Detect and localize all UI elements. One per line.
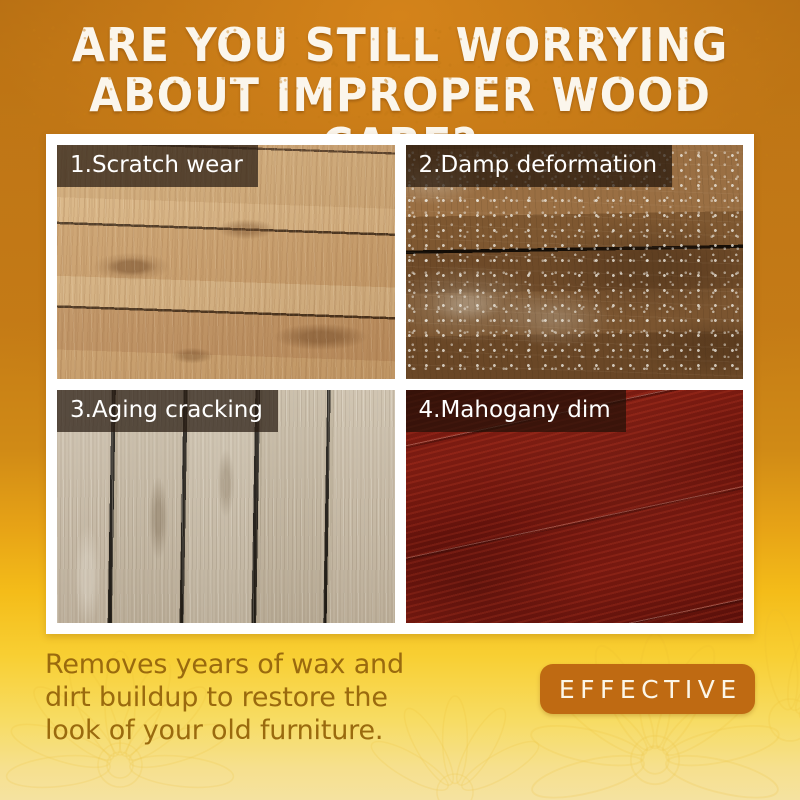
- panel-label-3: 3.Aging cracking: [57, 390, 278, 432]
- panel-aging-cracking: 3.Aging cracking: [57, 390, 395, 624]
- panel-label-1: 1.Scratch wear: [57, 145, 258, 187]
- panel-damp-deformation: 2.Damp deformation: [406, 145, 744, 379]
- photo-grid: 1.Scratch wear 2.Damp deformation 3.Agin…: [57, 145, 743, 623]
- headline-line-1: ARE YOU STILL WORRYING: [28, 20, 772, 70]
- panel-label-4: 4.Mahogany dim: [406, 390, 626, 432]
- caption-text: Removes years of wax and dirt buildup to…: [45, 648, 445, 747]
- panel-label-2: 2.Damp deformation: [406, 145, 673, 187]
- photo-grid-frame: 1.Scratch wear 2.Damp deformation 3.Agin…: [46, 134, 754, 634]
- panel-scratch-wear: 1.Scratch wear: [57, 145, 395, 379]
- effective-badge: EFFECTIVE: [540, 664, 755, 714]
- effective-badge-label: EFFECTIVE: [553, 677, 741, 702]
- poster-canvas: ARE YOU STILL WORRYING ABOUT IMPROPER WO…: [0, 0, 800, 800]
- panel-mahogany-dim: 4.Mahogany dim: [406, 390, 744, 624]
